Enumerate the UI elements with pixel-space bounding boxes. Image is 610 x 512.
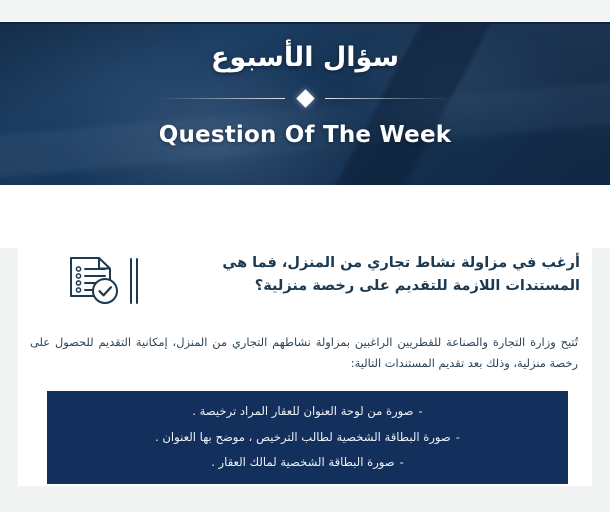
list-item-label: صورة البطاقة الشخصية لطالب الترخيص ، موض…: [155, 430, 451, 444]
bullet-marker: -: [419, 399, 423, 425]
content-card: أرغب في مزاولة نشاط تجاري من المنزل، فما…: [18, 248, 592, 486]
question-heading-row: أرغب في مزاولة نشاط تجاري من المنزل، فما…: [34, 252, 582, 311]
divider-line-left: [160, 98, 285, 99]
hero-banner: سؤال الأسبوع Question Of The Week: [0, 24, 610, 185]
divider-bar-1: [130, 258, 132, 304]
list-item: -صورة البطاقة الشخصية لطالب الترخيص ، مو…: [67, 425, 548, 451]
list-item-label: صورة من لوحة العنوان للعقار المراد ترخيص…: [192, 404, 413, 418]
divider-line-right: [325, 98, 450, 99]
page-root: سؤال الأسبوع Question Of The Week أرغب ف…: [0, 0, 610, 512]
divider-bar-2: [136, 258, 138, 304]
banner-title-arabic: سؤال الأسبوع: [211, 42, 399, 73]
bullet-marker: -: [456, 425, 460, 451]
content-area: أرغب في مزاولة نشاط تجاري من المنزل، فما…: [0, 248, 610, 486]
documents-list: -صورة من لوحة العنوان للعقار المراد ترخي…: [67, 399, 548, 476]
document-checklist-check-icon: [66, 255, 120, 311]
answer-paragraph: تُتيح وزارة التجارة والصناعة للقطريين ال…: [30, 332, 578, 374]
bottom-strip: [0, 486, 610, 512]
list-item: -صورة البطاقة الشخصية لمالك العقار .: [67, 450, 548, 476]
top-strip: [0, 0, 610, 24]
diamond-icon: [296, 89, 314, 107]
banner-content: سؤال الأسبوع Question Of The Week: [0, 24, 610, 185]
list-item-label: صورة البطاقة الشخصية لمالك العقار .: [211, 455, 394, 469]
banner-title-english: Question Of The Week: [159, 122, 452, 148]
question-text: أرغب في مزاولة نشاط تجاري من المنزل، فما…: [148, 252, 582, 299]
banner-divider: [160, 85, 450, 111]
white-spacer-band: [0, 185, 610, 248]
vertical-divider-bars: [130, 258, 138, 304]
list-item: -صورة من لوحة العنوان للعقار المراد ترخي…: [67, 399, 548, 425]
bullet-marker: -: [400, 450, 404, 476]
documents-list-box: -صورة من لوحة العنوان للعقار المراد ترخي…: [47, 391, 568, 484]
